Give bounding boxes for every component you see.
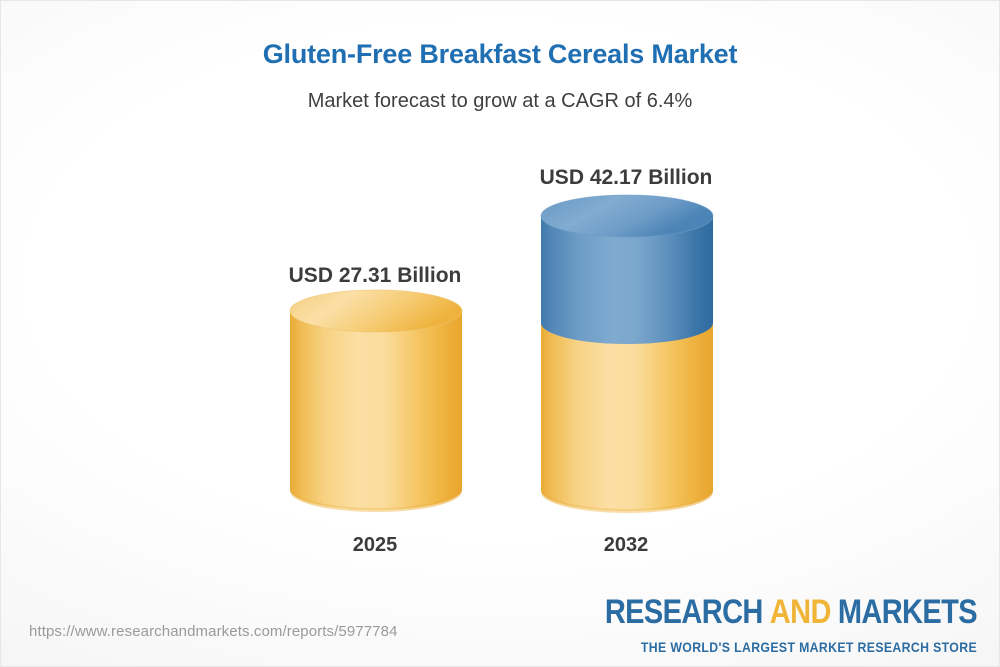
- brand-word-markets: MARKETS: [838, 593, 977, 631]
- chart-canvas: Gluten-Free Breakfast Cereals Market Mar…: [0, 0, 1000, 667]
- bar-group-2032: USD 42.17 Billion: [1, 1, 1000, 667]
- bar-category-label-2032: 2032: [476, 534, 776, 557]
- bar-value-label-2032: USD 42.17 Billion: [476, 166, 776, 190]
- brand-word-research: RESEARCH: [605, 593, 763, 631]
- brand-wordmark: RESEARCHANDMARKETS: [605, 596, 977, 630]
- cylinder-bar-2032[interactable]: [537, 194, 717, 522]
- brand-word-and: AND: [770, 593, 831, 631]
- source-url[interactable]: https://www.researchandmarkets.com/repor…: [29, 623, 398, 640]
- brand-tagline: THE WORLD'S LARGEST MARKET RESEARCH STOR…: [605, 641, 977, 655]
- brand-logo[interactable]: RESEARCHANDMARKETS THE WORLD'S LARGEST M…: [605, 601, 977, 654]
